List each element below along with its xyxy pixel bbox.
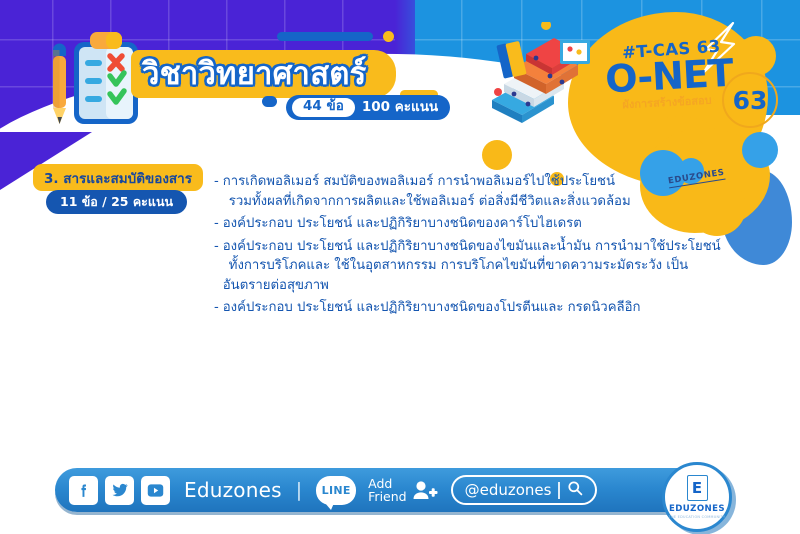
list-item: - การเกิดพอลิเมอร์ สมบัติของพอลิเมอร์ กา… bbox=[214, 172, 734, 211]
add-person-icon[interactable] bbox=[412, 479, 438, 501]
bullet-text: องค์ประกอบ ประโยชน์ และปฏิกิริยาบางชนิดข… bbox=[223, 298, 734, 318]
search-icon[interactable] bbox=[567, 480, 583, 500]
infographic-canvas: EDUZONES bbox=[0, 0, 800, 534]
bullet-marker: - bbox=[214, 172, 219, 211]
handle-separator bbox=[558, 482, 560, 499]
yellow-dot-c bbox=[736, 36, 776, 76]
eduzones-badge-name: EDUZONES bbox=[669, 504, 725, 514]
bullet-line-2: ทั้งการบริโภคและ ใช้ในอุตสาหกรรม การบริโ… bbox=[223, 258, 688, 293]
list-item: - องค์ประกอบ ประโยชน์ และปฏิกิริยาบางชนิ… bbox=[214, 237, 734, 296]
bullet-text: องค์ประกอบ ประโยชน์ และปฏิกิริยาบางชนิดข… bbox=[223, 237, 734, 296]
bullet-text: องค์ประกอบ ประโยชน์ และปฏิกิริยาบางชนิดข… bbox=[223, 214, 734, 234]
add-friend-label[interactable]: Add Friend bbox=[368, 477, 406, 504]
score-summary-bar: 44 ข้อ 100 คะแนน bbox=[286, 95, 450, 120]
lightning-bolt-icon bbox=[700, 22, 740, 74]
dot-decoration-left bbox=[262, 96, 277, 107]
bullet-line-1: องค์ประกอบ ประโยชน์ และปฏิกิริยาบางชนิดข… bbox=[223, 216, 582, 231]
bullet-text: การเกิดพอลิเมอร์ สมบัติของพอลิเมอร์ การน… bbox=[223, 172, 734, 211]
list-item: - องค์ประกอบ ประโยชน์ และปฏิกิริยาบางชนิ… bbox=[214, 214, 734, 234]
footer-divider: | bbox=[296, 479, 302, 501]
yellow-dot-a bbox=[482, 140, 512, 170]
bullet-list: - การเกิดพอลิเมอร์ สมบัติของพอลิเมอร์ กา… bbox=[214, 172, 734, 321]
add-friend-line-2: Friend bbox=[368, 489, 406, 504]
bullet-marker: - bbox=[214, 298, 219, 318]
eduzones-logo-badge: E EDUZONES THE EDUCATION COMMUNITY bbox=[662, 462, 732, 532]
dash-decoration-top bbox=[277, 32, 373, 41]
dot-decoration-top bbox=[383, 31, 394, 42]
bullet-marker: - bbox=[214, 214, 219, 234]
yellow-dot-e bbox=[690, 94, 700, 104]
eduzones-letter-mark: E bbox=[687, 475, 708, 501]
footer-bar: Eduzones | LINE Add Friend @eduzones bbox=[55, 468, 715, 512]
blue-circle-c bbox=[742, 132, 778, 168]
youtube-icon[interactable] bbox=[141, 476, 170, 505]
subject-title: วิชาวิทยาศาสตร์ bbox=[142, 53, 392, 95]
section-title-badge: 3. สารและสมบัติของสาร bbox=[33, 164, 203, 191]
bullet-line-1: องค์ประกอบ ประโยชน์ และปฏิกิริยาบางชนิดข… bbox=[223, 300, 641, 315]
line-icon[interactable]: LINE bbox=[316, 476, 356, 505]
score-total-label: 100 คะแนน bbox=[362, 101, 438, 115]
year-badge-63: 63 bbox=[722, 72, 778, 128]
facebook-icon[interactable] bbox=[69, 476, 98, 505]
handle-text: @eduzones bbox=[465, 481, 552, 499]
section-count-badge: 11 ข้อ / 25 คะแนน bbox=[46, 190, 187, 214]
bullet-line-1: องค์ประกอบ ประโยชน์ และปฏิกิริยาบางชนิดข… bbox=[223, 239, 721, 254]
question-count-pill: 44 ข้อ bbox=[292, 98, 355, 117]
bullet-marker: - bbox=[214, 237, 219, 296]
yellow-dot-f bbox=[689, 140, 703, 154]
twitter-icon[interactable] bbox=[105, 476, 134, 505]
bullet-line-2: รวมทั้งผลที่เกิดจากการผลิตและใช้พอลิเมอร… bbox=[223, 194, 631, 209]
list-item: - องค์ประกอบ ประโยชน์ และปฏิกิริยาบางชนิ… bbox=[214, 298, 734, 318]
brand-name: Eduzones bbox=[184, 478, 282, 502]
books-illustration bbox=[484, 22, 614, 140]
eduzones-badge-tagline: THE EDUCATION COMMUNITY bbox=[669, 515, 726, 519]
bullet-line-1: การเกิดพอลิเมอร์ สมบัติของพอลิเมอร์ การน… bbox=[223, 174, 615, 189]
handle-search-pill[interactable]: @eduzones bbox=[451, 475, 597, 505]
